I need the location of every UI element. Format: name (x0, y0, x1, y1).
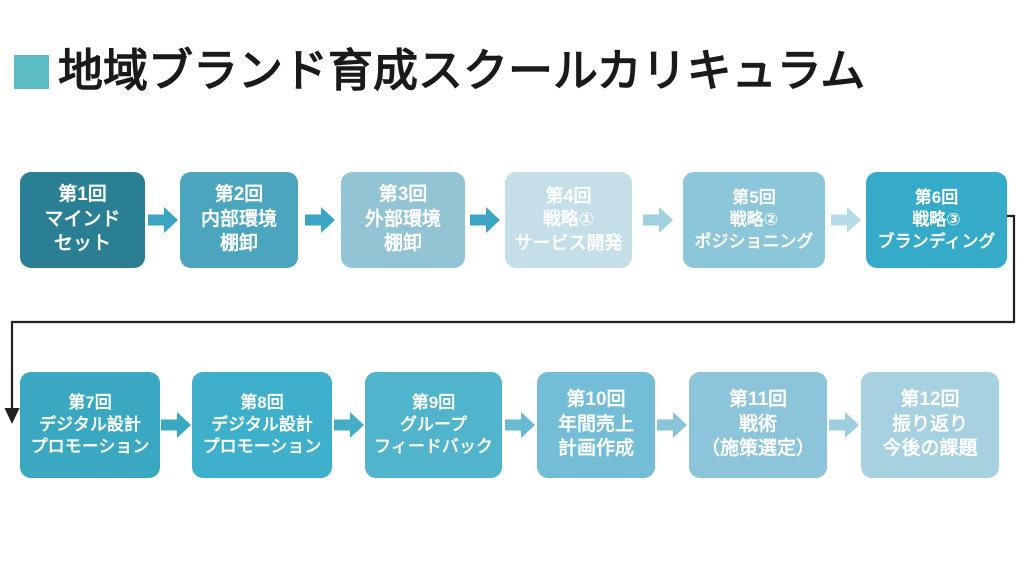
flow-arrow-5-to-6 (831, 205, 861, 235)
flow-step-session-label: 第11回 (729, 388, 787, 413)
flow-step-session-label: 第10回 (566, 388, 625, 413)
page-title: 地域ブランド育成スクールカリキュラム (58, 42, 865, 100)
flow-arrow-1-to-2 (148, 205, 178, 235)
flow-arrow-11-to-12 (829, 410, 859, 440)
flow-step-session-label: 第1回 (58, 183, 107, 208)
flow-arrow-7-to-8 (161, 410, 191, 440)
flow-step-topic-line: 戦略③ (912, 209, 960, 231)
flow-step-topic-line: 戦略② (730, 209, 778, 231)
flow-arrow-2-to-3 (305, 205, 335, 235)
flow-step-session-label: 第4回 (545, 185, 591, 208)
flow-arrow-8-to-9 (334, 410, 364, 440)
flow-step-topic-line: デジタル設計 (211, 414, 313, 436)
flow-step-topic-line: 戦略① (543, 208, 594, 231)
flow-step-topic-line: サービス開発 (515, 232, 623, 255)
flow-step-topic-line: 棚卸 (220, 232, 258, 257)
flow-step-topic-line: フィードバック (374, 436, 493, 458)
flow-step-topic-line: ポジショニング (695, 231, 814, 253)
flow-step-session-label: 第2回 (215, 183, 264, 208)
flow-step-topic-line: 内部環境 (201, 208, 277, 233)
flow-step-6[interactable]: 第6回戦略③ブランディング (866, 172, 1007, 268)
flow-step-7[interactable]: 第7回デジタル設計プロモーション (20, 372, 160, 478)
flow-arrow-4-to-5 (643, 205, 673, 235)
flow-step-session-label: 第9回 (412, 392, 455, 414)
flow-arrow-3-to-4 (470, 205, 500, 235)
flow-step-topic-line: 棚卸 (384, 232, 422, 257)
flow-step-session-label: 第3回 (379, 183, 428, 208)
flow-step-12[interactable]: 第12回振り返り今後の課題 (861, 372, 999, 478)
flow-step-topic-line: 年間売上 (558, 413, 634, 438)
flow-step-9[interactable]: 第9回グループフィードバック (365, 372, 502, 478)
flow-step-topic-line: セット (54, 232, 111, 257)
flow-step-1[interactable]: 第1回マインドセット (20, 172, 145, 268)
flow-step-session-label: 第12回 (900, 388, 959, 413)
flow-step-10[interactable]: 第10回年間売上計画作成 (537, 372, 655, 478)
flow-step-topic-line: 振り返り (892, 413, 968, 438)
flow-step-session-label: 第5回 (732, 187, 775, 209)
flow-arrow-10-to-11 (657, 410, 687, 440)
flow-step-topic-line: 今後の課題 (882, 437, 977, 462)
flow-step-5[interactable]: 第5回戦略②ポジショニング (683, 172, 825, 268)
flow-step-topic-line: ブランディング (878, 231, 996, 253)
flow-step-topic-line: 計画作成 (558, 437, 634, 462)
flow-step-8[interactable]: 第8回デジタル設計プロモーション (192, 372, 332, 478)
flow-step-topic-line: グループ (400, 414, 467, 436)
flow-step-topic-line: マインド (44, 208, 120, 233)
flow-step-session-label: 第7回 (68, 392, 111, 414)
flow-step-topic-line: プロモーション (31, 436, 150, 458)
flow-step-topic-line: 外部環境 (365, 208, 441, 233)
slide-canvas: 地域ブランド育成スクールカリキュラム 第1回マインドセット第2回内部環境棚卸第3… (0, 0, 1024, 577)
flow-step-topic-line: 戦術 (739, 413, 777, 438)
flow-arrow-9-to-10 (505, 410, 535, 440)
flow-step-3[interactable]: 第3回外部環境棚卸 (341, 172, 465, 268)
flow-step-session-label: 第8回 (240, 392, 283, 414)
flow-step-11[interactable]: 第11回戦術（施策選定） (689, 372, 827, 478)
flow-step-4[interactable]: 第4回戦略①サービス開発 (505, 172, 632, 268)
flow-step-2[interactable]: 第2回内部環境棚卸 (180, 172, 298, 268)
flow-step-topic-line: デジタル設計 (39, 414, 141, 436)
title-accent-square (14, 55, 49, 89)
flow-step-session-label: 第6回 (915, 187, 958, 209)
flow-step-topic-line: プロモーション (203, 436, 322, 458)
flow-step-topic-line: （施策選定） (701, 437, 815, 462)
